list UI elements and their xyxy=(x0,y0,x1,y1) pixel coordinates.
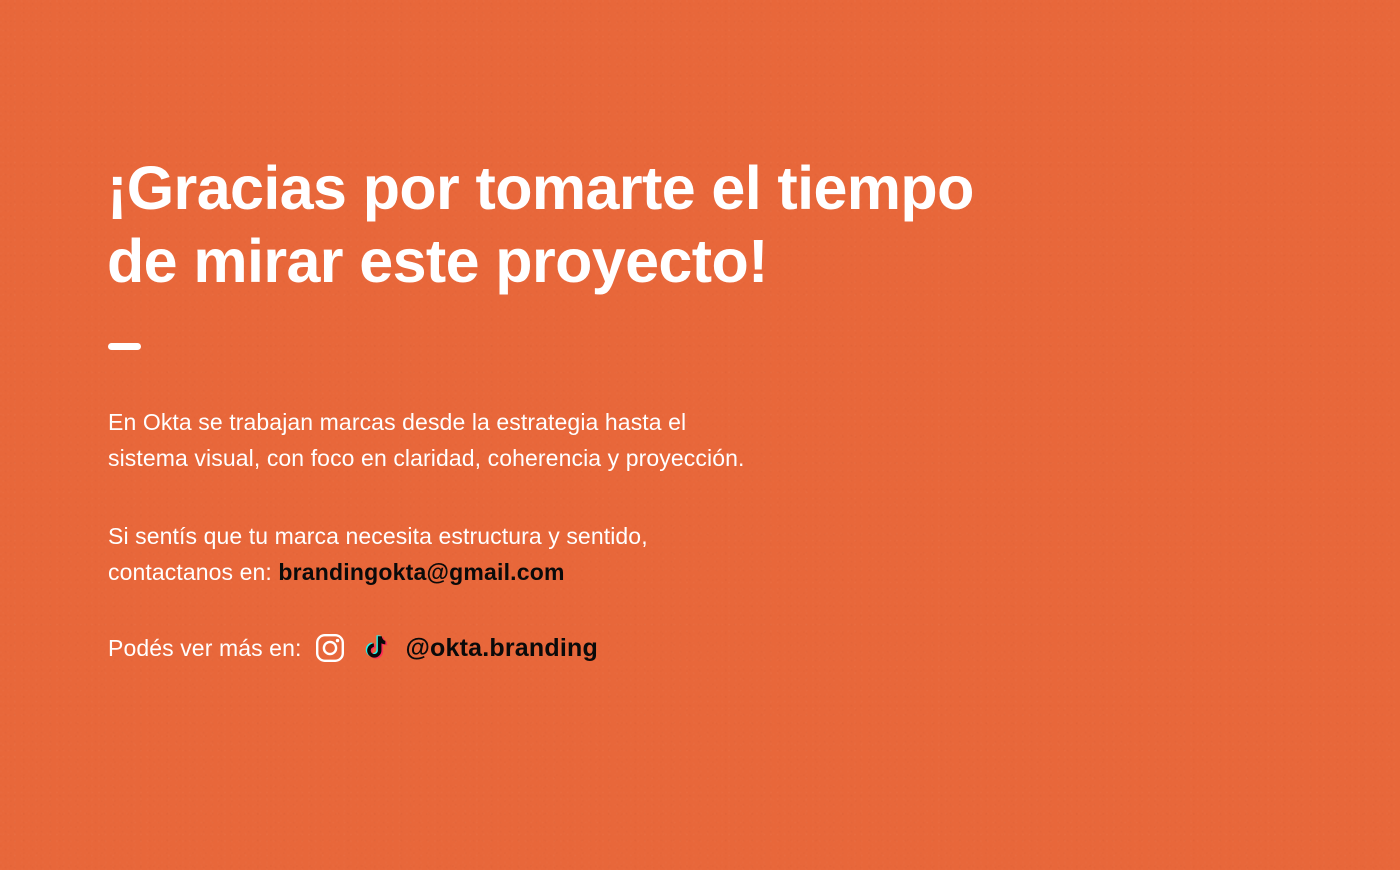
tiktok-icon[interactable] xyxy=(359,633,389,663)
email-address[interactable]: brandingokta@gmail.com xyxy=(278,559,564,585)
social-icon-group xyxy=(315,633,389,663)
divider-dash xyxy=(108,343,141,350)
contact-paragraph: Si sentís que tu marca necesita estructu… xyxy=(108,518,1068,590)
social-paragraph: Podés ver más en: xyxy=(108,630,1068,666)
contact-prompt-line: Si sentís que tu marca necesita estructu… xyxy=(108,518,1068,554)
contact-email-prefix: contactanos en: xyxy=(108,559,278,585)
slide-canvas: ¡Gracias por tomarte el tiempo de mirar … xyxy=(0,0,1400,870)
social-handle[interactable]: @okta.branding xyxy=(405,630,597,666)
page-title: ¡Gracias por tomarte el tiempo de mirar … xyxy=(107,152,1107,298)
social-label: Podés ver más en: xyxy=(108,630,301,666)
slide-content: ¡Gracias por tomarte el tiempo de mirar … xyxy=(107,0,1287,870)
instagram-icon[interactable] xyxy=(315,633,345,663)
about-paragraph: En Okta se trabajan marcas desde la estr… xyxy=(108,404,1068,476)
contact-email-line: contactanos en: brandingokta@gmail.com xyxy=(108,554,1068,590)
